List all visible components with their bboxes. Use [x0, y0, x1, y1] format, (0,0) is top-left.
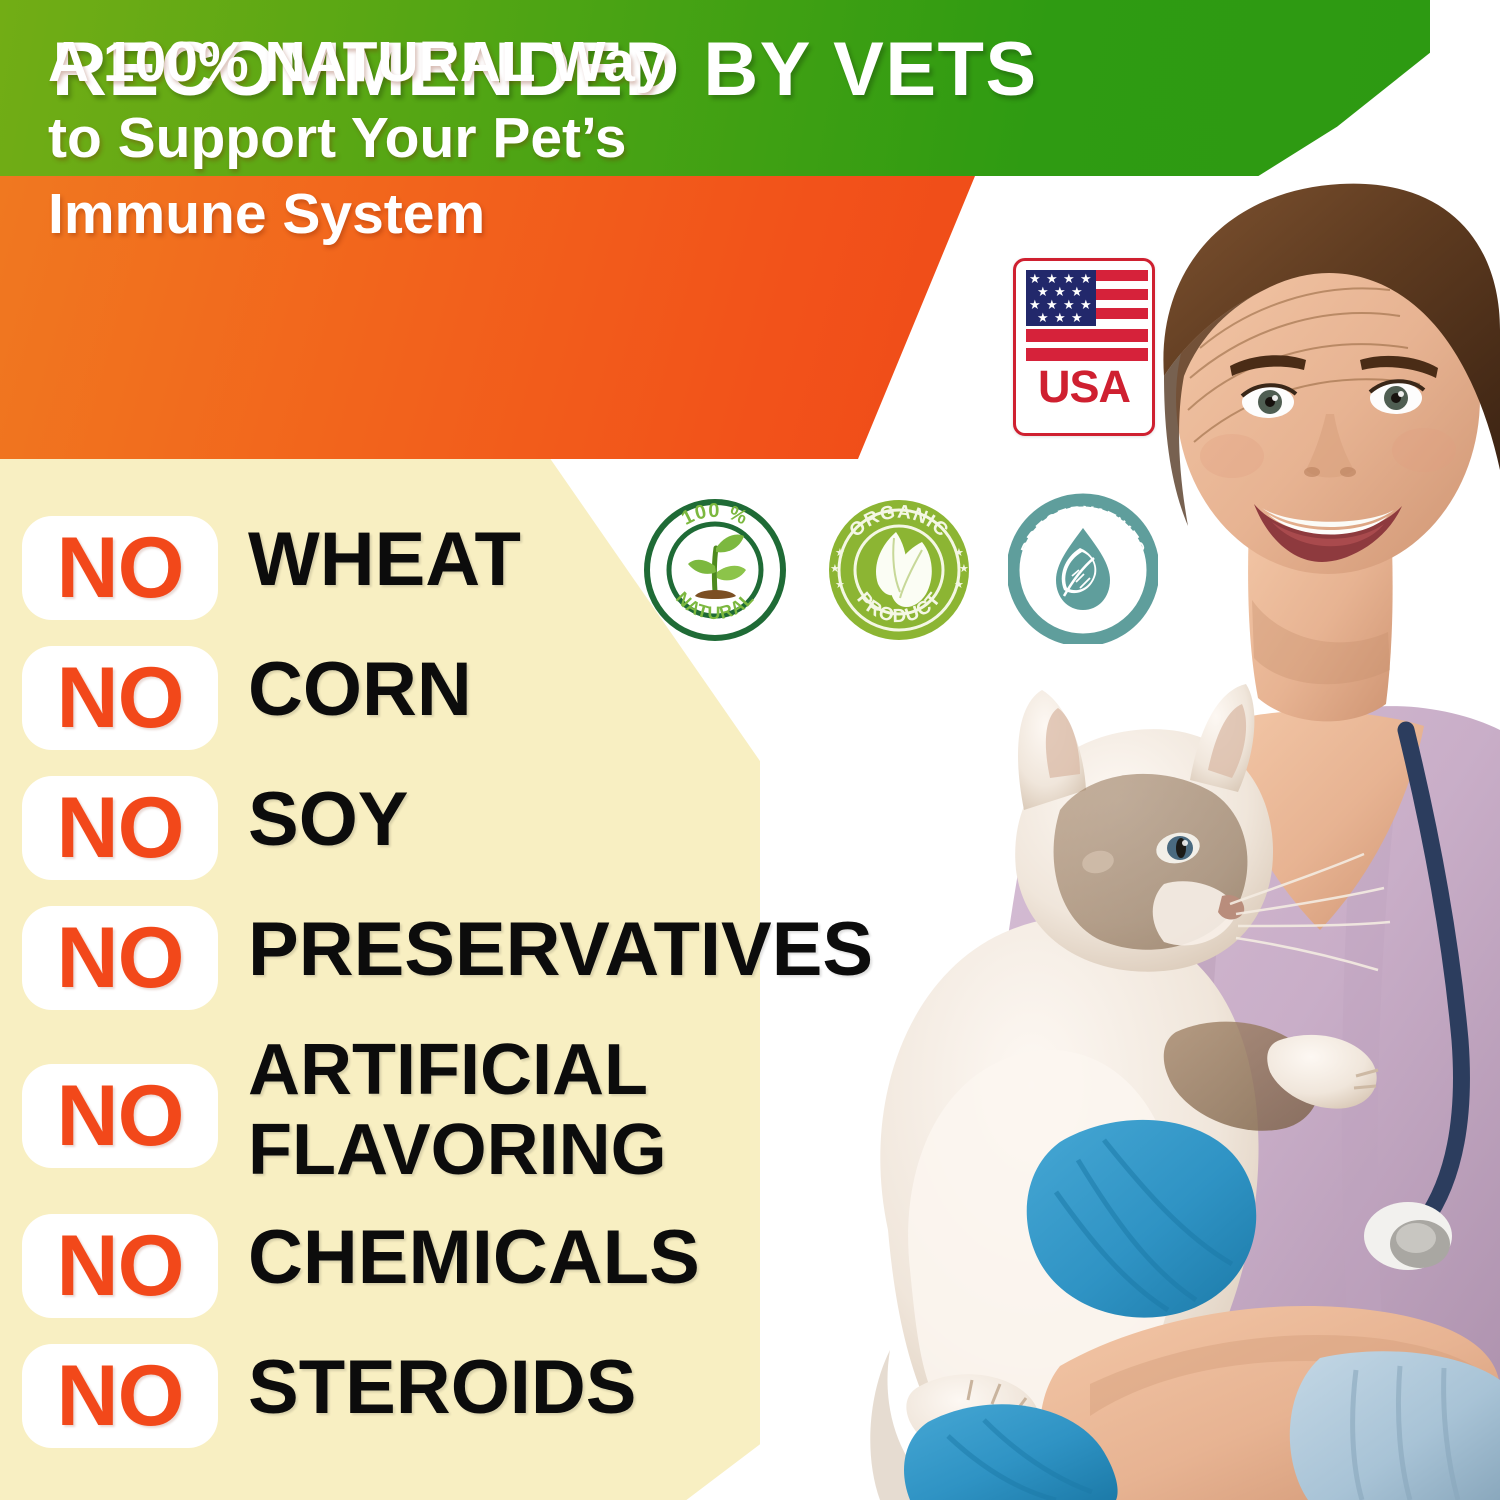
usa-label: USA	[1016, 361, 1152, 413]
list-item: NO CHEMICALS	[0, 1208, 900, 1338]
no-badge-label: NO	[57, 1353, 184, 1439]
usa-flag-icon: ★ ★ ★ ★ ★ ★ ★ ★ ★ ★ ★ ★ ★ ★	[1026, 270, 1148, 362]
no-badge: NO	[22, 776, 218, 880]
ingredient-label: STEROIDS	[248, 1346, 637, 1430]
claim-line-2: to Support Your Pet’s	[48, 100, 928, 176]
ingredient-label: CORN	[248, 648, 472, 732]
claim-line-1-prefix: A	[48, 30, 103, 94]
no-badge: NO	[22, 1214, 218, 1318]
list-item: NO WHEAT	[0, 510, 900, 640]
free-from-ingredients-list: NO WHEAT NO CORN NO SOY NO PRESERVATIVES…	[0, 510, 900, 1468]
list-item: NO CORN	[0, 640, 900, 770]
no-badge: NO	[22, 646, 218, 750]
no-badge-label: NO	[57, 525, 184, 611]
claim-line-3: Immune System	[48, 176, 928, 252]
svg-text:★: ★	[959, 563, 969, 575]
natural-claim-text: A 100% NATURAL Way to Support Your Pet’s…	[48, 24, 928, 252]
no-badge: NO	[22, 1344, 218, 1448]
vet-sleeve	[1290, 1351, 1500, 1500]
no-badge: NO	[22, 516, 218, 620]
ingredient-label: SOY	[248, 778, 409, 862]
no-badge-label: NO	[57, 1223, 184, 1309]
claim-line-1-emphasis: 100% NATURAL	[103, 30, 536, 94]
ingredient-label: ARTIFICIAL FLAVORING	[248, 1030, 667, 1190]
seal-no-added-preservatives: PRESERVATIVES NO ADDED	[1008, 492, 1158, 644]
claim-line-1-suffix: Way	[536, 30, 667, 94]
no-badge-label: NO	[57, 655, 184, 741]
list-item: NO ARTIFICIAL FLAVORING	[0, 1030, 900, 1208]
claim-line-1: A 100% NATURAL Way	[48, 24, 928, 100]
no-badge: NO	[22, 906, 218, 1010]
ingredient-label: PRESERVATIVES	[248, 908, 873, 992]
no-badge-label: NO	[57, 785, 184, 871]
no-badge-label: NO	[57, 915, 184, 1001]
made-in-usa-badge: ★ ★ ★ ★ ★ ★ ★ ★ ★ ★ ★ ★ ★ ★ USA	[1013, 258, 1155, 436]
ingredient-label: WHEAT	[248, 518, 521, 602]
ingredient-label: CHEMICALS	[248, 1216, 700, 1300]
no-badge: NO	[22, 1064, 218, 1168]
list-item: NO SOY	[0, 770, 900, 900]
list-item: NO STEROIDS	[0, 1338, 900, 1468]
svg-text:★: ★	[954, 579, 964, 591]
flag-canton: ★ ★ ★ ★ ★ ★ ★ ★ ★ ★ ★ ★ ★ ★	[1026, 270, 1096, 326]
list-item: NO PRESERVATIVES	[0, 900, 900, 1030]
svg-text:★: ★	[954, 547, 964, 559]
no-badge-label: NO	[57, 1073, 184, 1159]
product-infographic: RECOMMENDED BY VETS A 100% NATURAL Way t…	[0, 0, 1500, 1500]
